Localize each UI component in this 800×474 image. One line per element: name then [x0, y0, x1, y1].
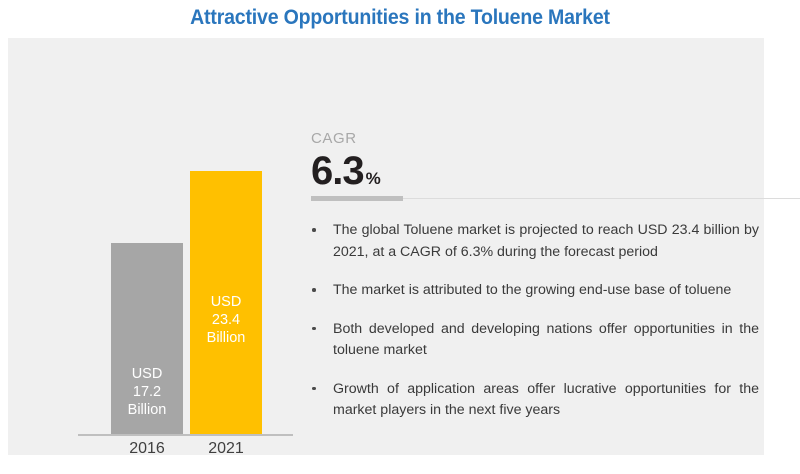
bar-2016-label: USD 17.2 Billion	[111, 365, 183, 419]
bar-2016[interactable]: USD 17.2 Billion	[111, 243, 183, 434]
list-item-text: The market is attributed to the growing …	[333, 282, 731, 298]
list-item-text: Both developed and developing nations of…	[333, 321, 759, 359]
cagr-caption: CAGR	[311, 130, 781, 147]
bar-2016-currency: USD	[111, 365, 183, 383]
list-item: The market is attributed to the growing …	[311, 280, 759, 302]
bullet-dot-icon	[312, 228, 316, 232]
divider-accent-segment	[311, 196, 403, 201]
bar-2021-currency: USD	[190, 293, 262, 311]
bar-chart: USD 17.2 Billion USD 23.4 Billion 2016 2…	[70, 118, 298, 458]
page-title: Attractive Opportunities in the Toluene …	[28, 6, 772, 30]
cagr-value: 6.3	[311, 149, 364, 193]
chart-baseline-axis	[78, 434, 293, 436]
cagr-percent-symbol: %	[366, 169, 381, 189]
list-item: The global Toluene market is projected t…	[311, 220, 759, 263]
bar-2021[interactable]: USD 23.4 Billion	[190, 171, 262, 434]
bar-2016-amount: 17.2	[111, 383, 183, 401]
x-axis-tick-2021: 2021	[190, 440, 262, 458]
bar-2021-scale: Billion	[190, 329, 262, 347]
bullet-list: The global Toluene market is projected t…	[311, 220, 759, 422]
x-axis-tick-2016: 2016	[111, 440, 183, 458]
list-item-text: Growth of application areas offer lucrat…	[333, 381, 759, 419]
bullet-dot-icon	[312, 387, 316, 391]
divider-hairline	[403, 198, 800, 199]
cagr-block: CAGR 6.3 %	[311, 130, 781, 193]
infographic-panel: USD 17.2 Billion USD 23.4 Billion 2016 2…	[8, 38, 764, 455]
section-divider	[311, 196, 800, 201]
list-item: Both developed and developing nations of…	[311, 319, 759, 362]
bullet-dot-icon	[312, 288, 316, 292]
bar-2016-scale: Billion	[111, 401, 183, 419]
bar-2021-amount: 23.4	[190, 311, 262, 329]
bullet-dot-icon	[312, 327, 316, 331]
cagr-value-row: 6.3 %	[311, 149, 781, 193]
list-item: Growth of application areas offer lucrat…	[311, 379, 759, 422]
list-item-text: The global Toluene market is projected t…	[333, 222, 759, 260]
bar-2021-label: USD 23.4 Billion	[190, 293, 262, 347]
